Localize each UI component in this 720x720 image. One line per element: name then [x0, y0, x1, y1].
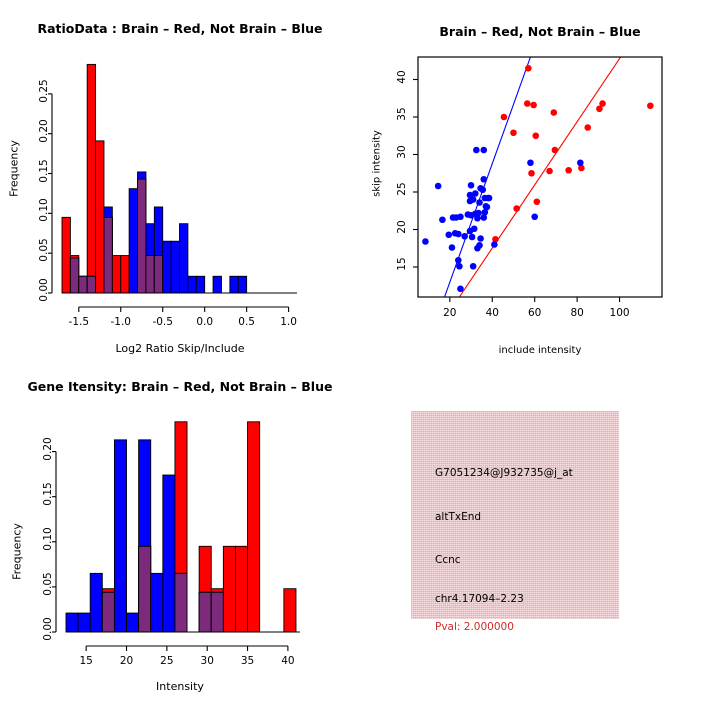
scatter-x-ticklabel: 60: [515, 307, 555, 319]
scatter-point: [477, 235, 484, 242]
gene-histogram-ylabel: Frequency: [11, 502, 24, 602]
gene-histogram-xlabel: Intensity: [0, 680, 360, 693]
scatter-point: [461, 233, 468, 240]
ratio-y-ticklabel: 0.25: [38, 61, 50, 121]
ratio-x-ticklabel: 1.0: [269, 316, 309, 328]
ratio-bar-blue: [171, 241, 179, 293]
scatter-point: [456, 263, 463, 270]
scatter-point: [455, 257, 462, 264]
scatter-point: [468, 182, 475, 189]
ratio-histogram-title: RatioData : Brain – Red, Not Brain – Blu…: [0, 21, 360, 36]
gene-bar-blue: [114, 440, 126, 632]
ratio-x-ticklabel: -0.5: [143, 316, 183, 328]
info-event-type: altTxEnd: [435, 511, 481, 523]
scatter-point: [565, 167, 572, 174]
scatter-plot: [360, 0, 720, 360]
gene-info-box: G7051234@J932735@j_at altTxEnd Ccnc chr4…: [411, 411, 619, 619]
gene-x-ticklabel: 25: [147, 655, 187, 667]
scatter-y-ticklabel: 40: [396, 49, 408, 105]
scatter-point: [480, 176, 487, 183]
info-locus: chr4.17094–2.23: [435, 593, 524, 605]
ratio-bar-blue: [180, 224, 188, 293]
scatter-point: [476, 199, 483, 206]
ratio-x-ticklabel: 0.0: [185, 316, 225, 328]
gene-bar-overlap: [175, 573, 187, 632]
gene-y-ticklabel: 0.20: [42, 419, 54, 479]
gene-x-ticklabel: 35: [228, 655, 268, 667]
scatter-point: [480, 147, 487, 154]
scatter-x-ticklabel: 20: [430, 307, 470, 319]
ratio-bar-red: [87, 64, 95, 293]
gene-bar-blue: [151, 573, 163, 632]
ratio-histogram-ylabel: Frequency: [8, 119, 21, 219]
scatter-point: [550, 109, 557, 116]
scatter-ylabel: skip intensity: [372, 114, 383, 214]
gene-bar-blue: [78, 613, 90, 632]
scatter-point: [469, 234, 476, 241]
scatter-point: [552, 147, 559, 154]
scatter-point: [473, 147, 480, 154]
ratio-bar-overlap: [138, 179, 146, 293]
ratio-x-ticklabel: 0.5: [227, 316, 267, 328]
scatter-point: [455, 231, 462, 238]
scatter-point: [449, 244, 456, 251]
scatter-inner-group: [422, 57, 654, 297]
scatter-point: [531, 213, 538, 220]
ratio-bar-blue: [188, 276, 196, 293]
gene-bar-overlap: [199, 592, 211, 632]
info-pval: Pval: 2.000000: [435, 621, 514, 633]
scatter-y-axis: [413, 80, 418, 268]
gene-bar-blue: [163, 475, 175, 632]
gene-bar-blue: [90, 573, 102, 632]
ratio-x-ticklabel: -1.5: [59, 316, 99, 328]
scatter-point: [471, 225, 478, 232]
scatter-point: [491, 241, 498, 248]
gene-bar-overlap: [211, 592, 223, 632]
gene-x-ticklabel: 15: [66, 655, 106, 667]
gene-bar-blue: [66, 613, 78, 632]
ratio-bar-red: [96, 141, 104, 293]
scatter-point: [457, 213, 464, 220]
ratio-bar-blue: [129, 189, 137, 293]
ratio-bar-red: [62, 217, 70, 293]
ratio-bar-overlap: [70, 258, 78, 293]
figure-canvas: RatioData : Brain – Red, Not Brain – Blu…: [0, 0, 720, 720]
scatter-point: [486, 195, 493, 202]
ratio-bar-overlap: [79, 276, 87, 293]
scatter-x-ticklabel: 80: [557, 307, 597, 319]
panel-gene-info: G7051234@J932735@j_at altTxEnd Ccnc chr4…: [360, 360, 720, 720]
scatter-point: [532, 132, 539, 139]
scatter-point: [528, 170, 535, 177]
scatter-point: [422, 238, 429, 245]
ratio-bars-group: [62, 64, 297, 293]
scatter-title: Brain – Red, Not Brain – Blue: [360, 24, 720, 39]
panel-ratio-histogram: RatioData : Brain – Red, Not Brain – Blu…: [0, 0, 360, 360]
scatter-point: [584, 124, 591, 131]
scatter-point: [479, 186, 486, 193]
scatter-point: [467, 198, 474, 205]
ratio-bar-blue: [230, 276, 238, 293]
scatter-point: [480, 214, 487, 221]
ratio-bar-red: [121, 256, 129, 293]
gene-histogram-title: Gene Itensity: Brain – Red, Not Brain – …: [0, 379, 360, 394]
scatter-point: [530, 102, 537, 109]
ratio-bar-blue: [213, 276, 221, 293]
scatter-point: [546, 168, 553, 175]
info-gene-symbol: Ccnc: [435, 554, 461, 566]
gene-bar-blue: [127, 613, 139, 632]
gene-x-ticklabel: 30: [187, 655, 227, 667]
gene-bars-group: [66, 422, 300, 632]
scatter-x-ticklabel: 100: [600, 307, 640, 319]
scatter-point: [513, 205, 520, 212]
panel-intensity-scatter: Brain – Red, Not Brain – Blue skip inten…: [360, 0, 720, 360]
scatter-x-axis: [450, 297, 620, 302]
scatter-point: [501, 114, 508, 121]
ratio-bar-blue: [196, 276, 204, 293]
scatter-point: [483, 203, 490, 210]
gene-bar-red: [284, 589, 296, 632]
scatter-point: [510, 129, 517, 136]
ratio-bar-overlap: [104, 217, 112, 293]
scatter-point: [647, 102, 654, 109]
scatter-point: [445, 231, 452, 238]
gene-bar-red: [223, 546, 235, 632]
ratio-bar-overlap: [146, 256, 154, 293]
gene-x-axis: [86, 646, 288, 651]
scatter-point: [524, 100, 531, 107]
scatter-point: [435, 183, 442, 190]
scatter-x-ticklabel: 40: [472, 307, 512, 319]
scatter-point: [474, 215, 481, 222]
ratio-x-ticklabel: -1.0: [101, 316, 141, 328]
ratio-bar-blue: [163, 241, 171, 293]
scatter-point: [527, 159, 534, 166]
scatter-point: [577, 159, 584, 166]
scatter-point: [525, 65, 532, 72]
scatter-point: [474, 245, 481, 252]
scatter-point: [599, 100, 606, 107]
gene-bar-red: [248, 422, 260, 632]
ratio-bar-overlap: [154, 256, 162, 293]
ratio-x-axis: [79, 307, 289, 312]
gene-x-ticklabel: 20: [107, 655, 147, 667]
scatter-point: [439, 216, 446, 223]
gene-bar-red: [235, 546, 247, 632]
scatter-point: [470, 263, 477, 270]
ratio-bar-overlap: [87, 276, 95, 293]
gene-bar-overlap: [139, 546, 151, 632]
ratio-bar-blue: [238, 276, 246, 293]
gene-bar-overlap: [102, 592, 114, 632]
panel-gene-intensity-histogram: Gene Itensity: Brain – Red, Not Brain – …: [0, 360, 360, 720]
scatter-xlabel: include intensity: [360, 345, 720, 356]
scatter-point: [534, 198, 541, 205]
ratio-histogram-plot: [0, 0, 360, 360]
ratio-bar-red: [112, 256, 120, 293]
gene-x-ticklabel: 40: [268, 655, 308, 667]
ratio-histogram-xlabel: Log2 Ratio Skip/Include: [0, 342, 360, 355]
scatter-point: [457, 285, 464, 292]
info-probe-id: G7051234@J932735@j_at: [435, 467, 573, 479]
